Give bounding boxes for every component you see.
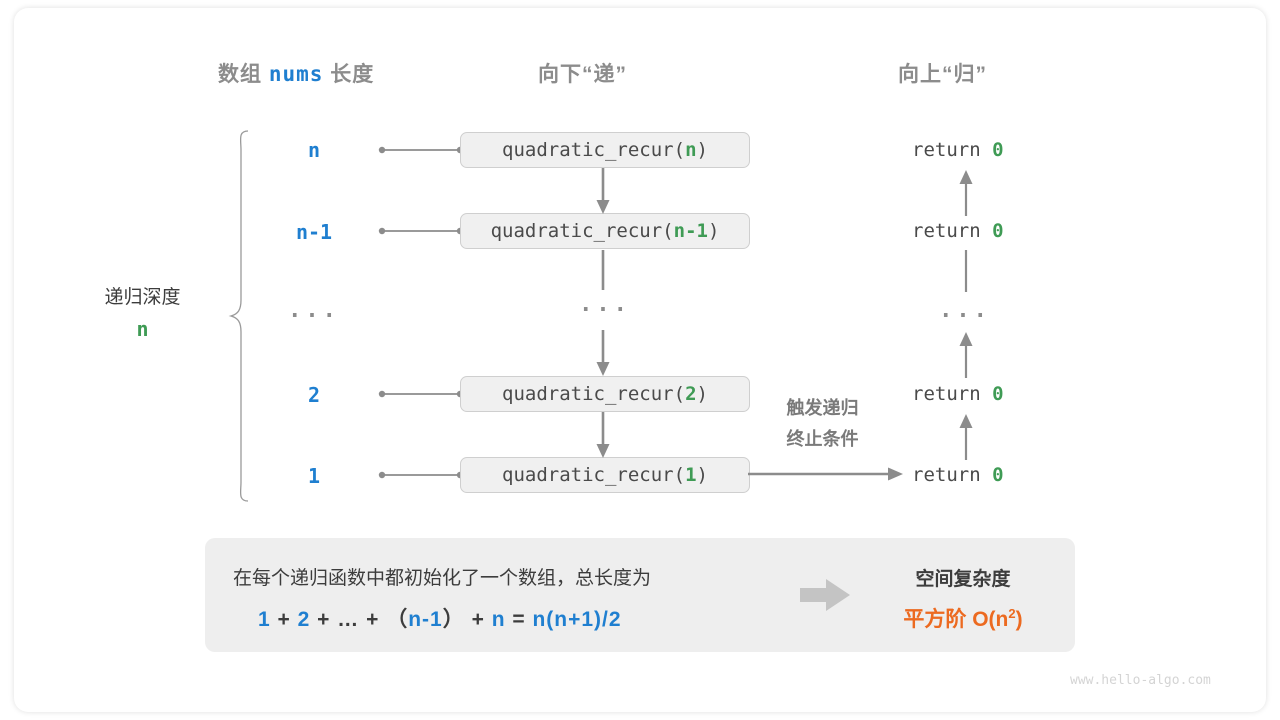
call-arg-row-1: n: [685, 139, 696, 161]
depth-value: n: [60, 317, 225, 341]
summary-text: 在每个递归函数中都初始化了一个数组，总长度为: [233, 563, 651, 590]
return-row-2: return 0: [912, 220, 1004, 242]
connector-row-2: [378, 221, 464, 241]
trigger-note: 触发递归 终止条件: [755, 393, 890, 455]
formula-op3: +: [366, 608, 379, 631]
summary-formula: 1 + 2 + … + （n-1） + n = n(n+1)/2: [258, 603, 622, 633]
formula-t2: 2: [298, 608, 311, 631]
return-keyword-row-1: return: [912, 139, 981, 161]
descend-arrow-3-icon: [592, 330, 614, 378]
summary-arrow-icon: [800, 578, 852, 612]
summary-panel: [205, 538, 1075, 652]
descend-arrow-4-icon: [592, 412, 614, 460]
depth-annotation: 递归深度 n: [60, 282, 225, 341]
formula-result: n(n+1)/2: [532, 608, 621, 631]
connector-row-1: [378, 140, 464, 160]
complexity-value: 平方阶 O(n2): [868, 603, 1058, 633]
call-box-row-1[interactable]: quadratic_recur(n): [460, 132, 750, 168]
formula-t4: n-1: [408, 608, 443, 631]
base-case-arrow-icon: [748, 464, 908, 484]
return-keyword-row-4: return: [912, 383, 981, 405]
ascend-arrow-4-icon: [955, 412, 977, 460]
return-value-row-1: 0: [992, 139, 1003, 161]
descend-arrow-2-icon: [592, 250, 614, 292]
ascend-arrow-1-icon: [955, 168, 977, 216]
return-value-row-4: 0: [992, 383, 1003, 405]
complexity-exponent: 2: [1008, 606, 1015, 621]
call-arg-row-4: 2: [685, 383, 696, 405]
return-value-row-2: 0: [992, 220, 1003, 242]
descend-arrow-1-icon: [592, 168, 614, 216]
call-name-row-5: quadratic_recur(: [502, 464, 685, 486]
size-value-row-2: n-1: [274, 220, 354, 244]
depth-label: 递归深度: [60, 282, 225, 309]
formula-op2: +: [317, 608, 330, 631]
ascend-arrow-3-icon: [955, 330, 977, 378]
complexity-title: 空间复杂度: [868, 564, 1058, 591]
formula-t1: 1: [258, 608, 271, 631]
return-value-row-5: 0: [992, 464, 1003, 486]
trigger-note-line1: 触发递归: [755, 393, 890, 424]
header-ascend: 向上“归”: [898, 58, 987, 88]
call-close-row-5: ): [697, 464, 708, 486]
call-box-row-4[interactable]: quadratic_recur(2): [460, 376, 750, 412]
header-array-prefix: 数组: [218, 63, 262, 86]
header-descend: 向下“递”: [538, 58, 627, 88]
connector-row-5: [378, 465, 464, 485]
return-row-3: ...: [925, 298, 1005, 323]
return-row-5: return 0: [912, 464, 1004, 486]
return-row-1: return 0: [912, 139, 1004, 161]
call-box-row-2[interactable]: quadratic_recur(n-1): [460, 213, 750, 249]
call-arg-row-2: n-1: [674, 220, 708, 242]
call-close-row-4: ): [697, 383, 708, 405]
size-value-row-5: 1: [274, 464, 354, 488]
call-close-row-2: ): [708, 220, 719, 242]
formula-t3: …: [337, 608, 359, 631]
watermark: www.hello-algo.com: [1070, 673, 1211, 688]
call-box-row-5[interactable]: quadratic_recur(1): [460, 457, 750, 493]
depth-brace-icon: [228, 128, 254, 504]
return-keyword-row-2: return: [912, 220, 981, 242]
complexity-close: ): [1016, 608, 1023, 631]
formula-eq: =: [512, 608, 525, 631]
size-value-row-1: n: [274, 138, 354, 162]
formula-t5: n: [492, 608, 506, 631]
formula-op4: +: [472, 608, 485, 631]
header-array-length: 数组 nums 长度: [218, 58, 374, 88]
call-name-row-4: quadratic_recur(: [502, 383, 685, 405]
size-value-row-3: ...: [274, 298, 354, 323]
ascend-arrow-2-icon: [955, 250, 977, 292]
complexity-big-o: O(n: [972, 608, 1008, 631]
formula-paren-close: ）: [443, 608, 465, 631]
call-arg-row-5: 1: [685, 464, 696, 486]
return-keyword-row-5: return: [912, 464, 981, 486]
complexity-prefix: 平方阶: [903, 608, 966, 631]
call-ellipsis-row-3: ···: [565, 298, 645, 323]
header-array-suffix: 长度: [330, 63, 374, 86]
call-name-row-1: quadratic_recur(: [502, 139, 685, 161]
formula-paren-open: （: [386, 608, 408, 631]
size-value-row-4: 2: [274, 383, 354, 407]
connector-row-4: [378, 384, 464, 404]
formula-op1: +: [278, 608, 291, 631]
diagram-stage: 数组 nums 长度 向下“递” 向上“归” 递归深度 n n quadrati…: [0, 0, 1280, 720]
return-row-4: return 0: [912, 383, 1004, 405]
call-name-row-2: quadratic_recur(: [491, 220, 674, 242]
trigger-note-line2: 终止条件: [755, 424, 890, 455]
header-array-code: nums: [269, 62, 324, 86]
call-close-row-1: ): [697, 139, 708, 161]
